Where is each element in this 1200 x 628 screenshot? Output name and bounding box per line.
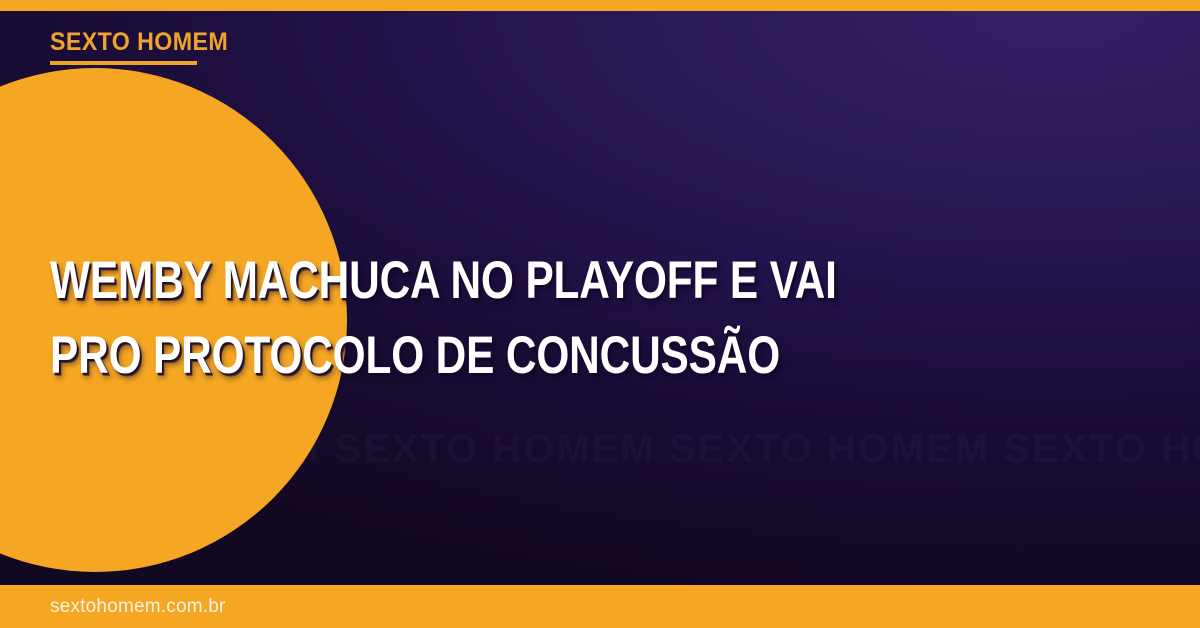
- headline: WEMBY MACHUCA NO PLAYOFF E VAI PRO PROTO…: [50, 243, 1050, 393]
- brand-logo-text: SEXTO HOMEM: [50, 28, 228, 57]
- social-share-card: SEXTO HOMEM SEXTO HOMEM SEXTO HOMEM SEXT…: [0, 0, 1200, 628]
- footer-bar: sextohomem.com.br: [0, 585, 1200, 628]
- top-accent-bar: [0, 0, 1200, 11]
- headline-line-1: WEMBY MACHUCA NO PLAYOFF E VAI: [50, 243, 850, 318]
- headline-line-2: PRO PROTOCOLO DE CONCUSSÃO: [50, 318, 850, 393]
- brand-logo-underline: [50, 61, 197, 65]
- brand-logo[interactable]: SEXTO HOMEM: [50, 28, 241, 65]
- site-url-text[interactable]: sextohomem.com.br: [50, 585, 226, 628]
